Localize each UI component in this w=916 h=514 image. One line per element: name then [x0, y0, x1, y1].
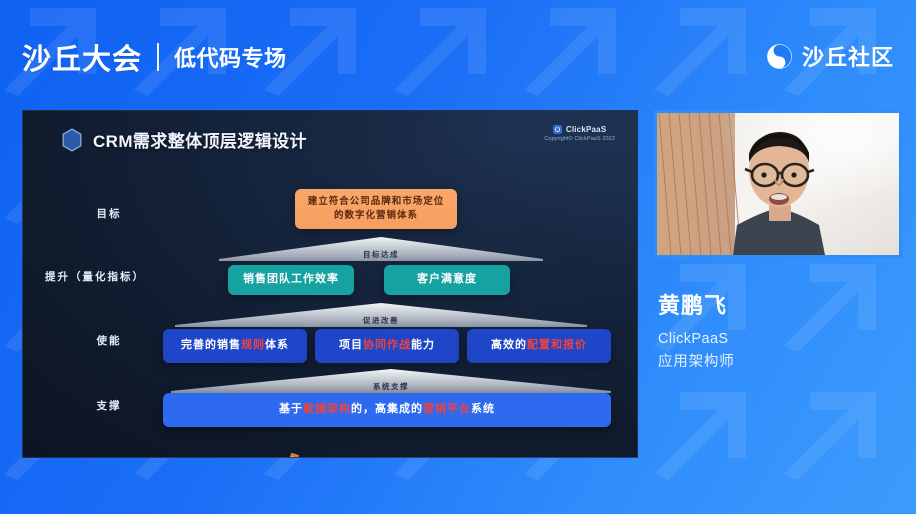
vendor-logo-block: ClickPaaS Copyright© ClickPaaS 2022: [544, 125, 615, 142]
enable-box-1-post: 体系: [265, 339, 289, 351]
enable-box-2[interactable]: 项目协同作战能力: [315, 329, 459, 363]
sandhill-s-logo-icon: [766, 43, 793, 70]
enable-box-1[interactable]: 完善的销售规则体系: [163, 329, 307, 363]
enable-box-1-highlight: 规则: [241, 339, 265, 351]
enable-box-2-highlight: 协同作战: [363, 339, 411, 351]
row-label-metrics: 提升（量化指标）: [35, 269, 155, 284]
speaker-panel: 黄鹏飞 ClickPaaS 应用架构师: [654, 110, 902, 458]
support-box-highlight-1: 敏捷架构: [303, 403, 351, 415]
vendor-name: ClickPaaS: [566, 125, 607, 134]
speaker-name: 黄鹏飞: [658, 288, 727, 320]
metric-box-2[interactable]: 客户满意度: [384, 265, 510, 295]
pencil-cursor-icon: [281, 451, 303, 458]
support-box-highlight-2: 营销平台: [423, 403, 471, 415]
event-subtitle: 低代码专场: [174, 41, 287, 73]
goal-box[interactable]: 建立符合公司品牌和市场定位 的数字化营销体系: [295, 189, 457, 229]
event-title: 沙丘大会: [22, 36, 142, 78]
slide-header: CRM需求整体顶层逻辑设计 ClickPaaS Copyright© Click…: [23, 111, 637, 157]
slide-panel[interactable]: CRM需求整体顶层逻辑设计 ClickPaaS Copyright© Click…: [22, 110, 638, 458]
goal-box-line2: 的数字化营销体系: [334, 209, 418, 223]
speaker-organization: ClickPaaS: [658, 328, 729, 350]
support-box-post: 系统: [471, 403, 495, 415]
enable-box-3-highlight: 配置和报价: [527, 339, 587, 351]
page-header: 沙丘大会 低代码专场 沙丘社区: [0, 0, 916, 104]
row-label-support: 支撑: [49, 398, 169, 413]
enable-box-3[interactable]: 高效的配置和报价: [467, 329, 611, 363]
goal-box-line1: 建立符合公司品牌和市场定位: [308, 195, 445, 209]
clickpaas-icon: [553, 125, 562, 134]
presentation-stage: 沙丘大会 低代码专场 沙丘社区 CRM需求整体顶层逻辑设计: [0, 0, 916, 514]
community-name: 沙丘社区: [802, 40, 894, 72]
hexagon-icon: [61, 128, 83, 152]
enable-box-2-pre: 项目: [339, 339, 363, 351]
brand-divider: [157, 43, 159, 71]
row-label-goal: 目标: [49, 206, 169, 221]
support-box[interactable]: 基于敏捷架构的，高集成的营销平台系统: [163, 393, 611, 427]
enable-box-2-post: 能力: [411, 339, 435, 351]
support-box-pre: 基于: [279, 403, 303, 415]
vendor-copyright: Copyright© ClickPaaS 2022: [544, 136, 615, 142]
enable-box-1-pre: 完善的销售: [181, 339, 241, 351]
band-label-goal: 目标达成: [219, 249, 543, 260]
slide-title: CRM需求整体顶层逻辑设计: [93, 127, 307, 152]
enable-box-3-pre: 高效的: [491, 339, 527, 351]
band-label-support: 系统支撑: [171, 381, 611, 392]
band-goal-achievement: 目标达成: [219, 237, 543, 261]
row-label-enable: 使能: [49, 333, 169, 348]
band-improvement: 促进改善: [175, 303, 587, 327]
event-brand: 沙丘大会 低代码专场: [22, 36, 287, 78]
community-brand: 沙丘社区: [766, 40, 894, 72]
speaker-role: 应用架构师: [658, 351, 735, 373]
speaker-webcam-feed[interactable]: [654, 110, 902, 258]
band-label-improvement: 促进改善: [175, 315, 587, 326]
support-box-mid: 的，高集成的: [351, 403, 423, 415]
band-system-support: 系统支撑: [171, 369, 611, 393]
slide-title-group: CRM需求整体顶层逻辑设计: [61, 127, 307, 152]
metric-box-1[interactable]: 销售团队工作效率: [228, 265, 354, 295]
webcam-video-frame: [657, 113, 899, 255]
